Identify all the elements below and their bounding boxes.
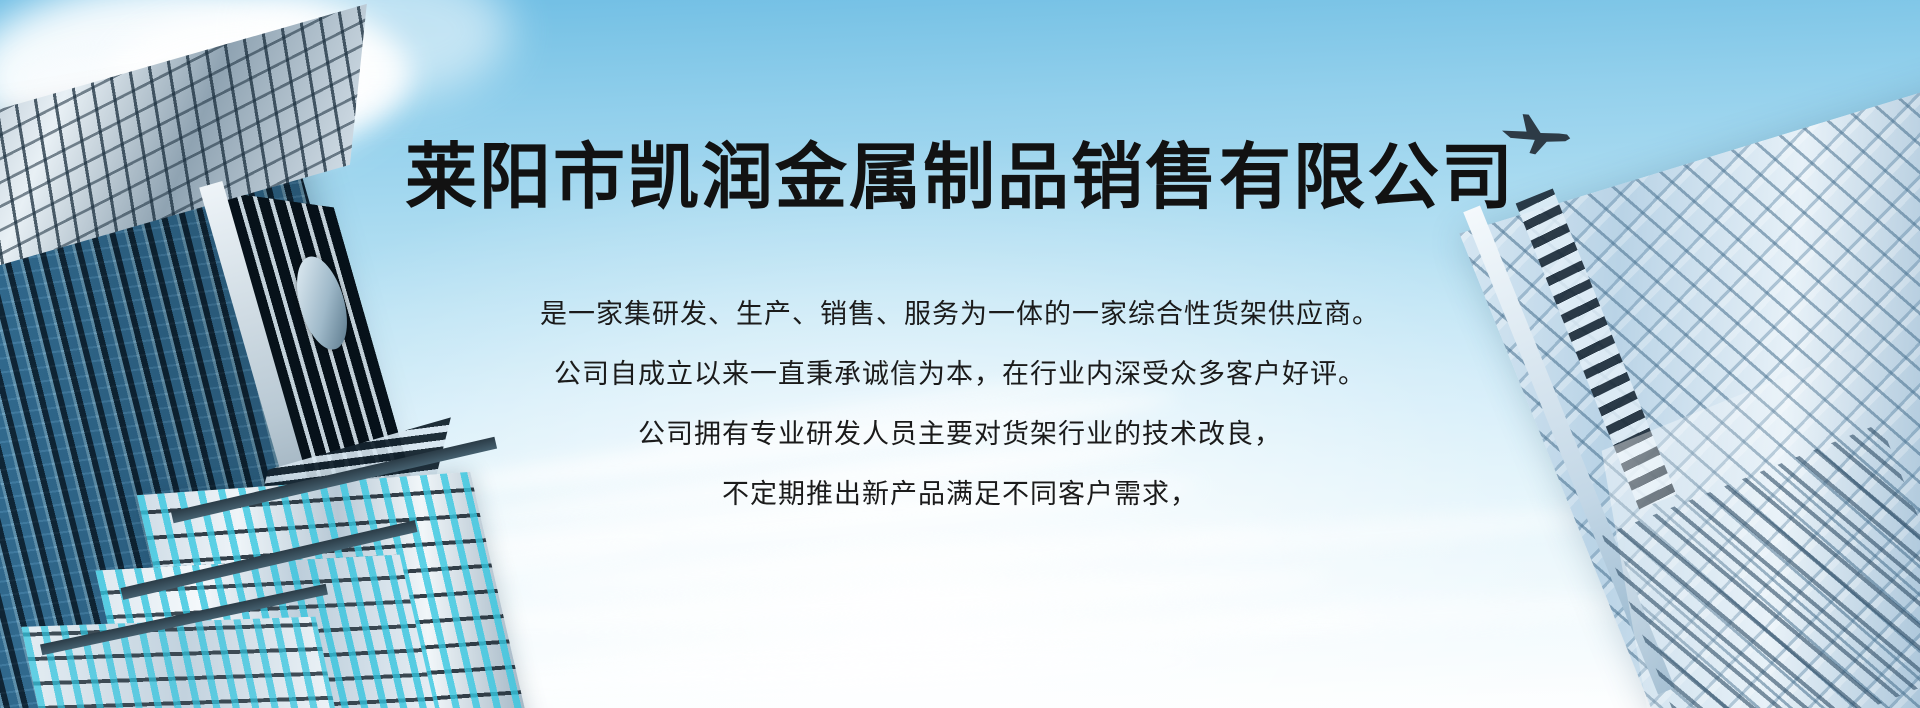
banner-description-line-3: 公司拥有专业研发人员主要对货架行业的技术改良， [0, 421, 1920, 448]
hero-banner: 莱阳市凯润金属制品销售有限公司 是一家集研发、生产、销售、服务为一体的一家综合性… [0, 0, 1920, 708]
banner-description-line-1: 是一家集研发、生产、销售、服务为一体的一家综合性货架供应商。 [0, 301, 1920, 328]
banner-description-line-2: 公司自成立以来一直秉承诚信为本，在行业内深受众多客户好评。 [0, 361, 1920, 388]
banner-description-line-4: 不定期推出新产品满足不同客户需求， [0, 481, 1920, 508]
banner-copy: 莱阳市凯润金属制品销售有限公司 是一家集研发、生产、销售、服务为一体的一家综合性… [0, 0, 1920, 708]
page-title: 莱阳市凯润金属制品销售有限公司 [0, 141, 1920, 213]
